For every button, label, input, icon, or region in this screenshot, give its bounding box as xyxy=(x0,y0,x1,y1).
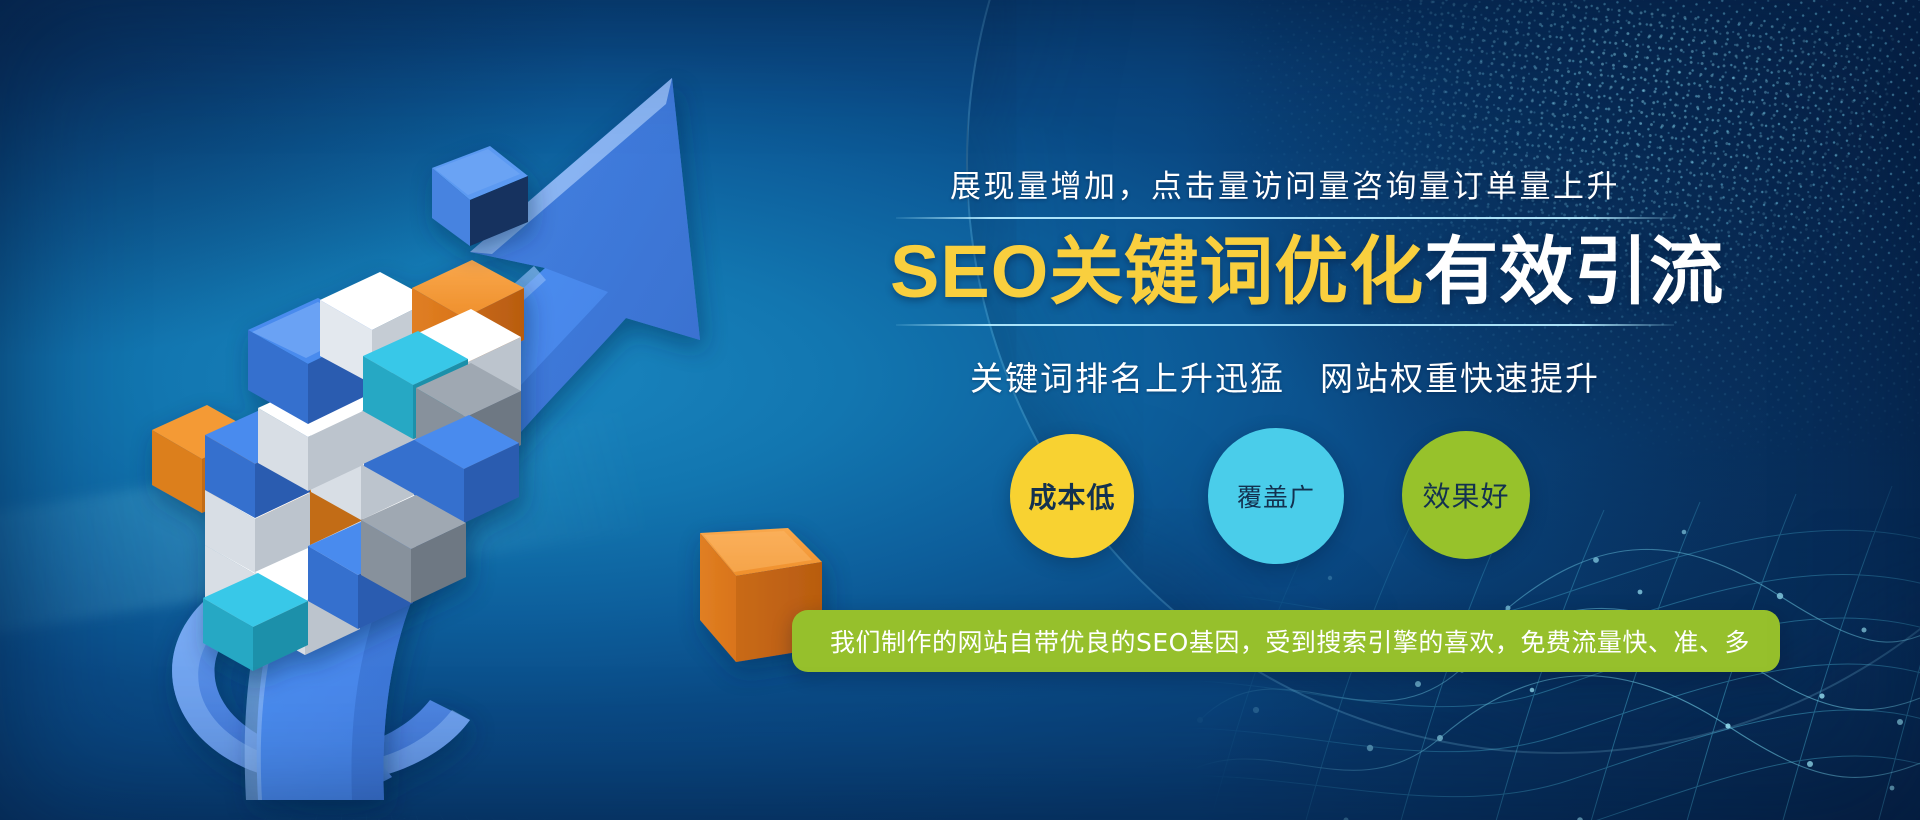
badge-cost-low[interactable]: 成本低 xyxy=(1010,434,1134,558)
headline-rest: 有效引流 xyxy=(1424,230,1724,313)
headline-block: 展现量增加，点击量访问量咨询量订单量上升 SEO关键词优化有效引流 关键词排名上… xyxy=(890,168,1680,400)
hero-artwork xyxy=(0,0,900,820)
badge-effect-good[interactable]: 效果好 xyxy=(1402,431,1530,559)
badge-label: 成本低 xyxy=(1028,476,1115,516)
footer-callout-text: 我们制作的网站自带优良的SEO基因，受到搜索引擎的喜欢，免费流量快、准、多 xyxy=(792,623,1750,659)
benefit-badges: 成本低 覆盖广 效果好 xyxy=(1010,428,1570,578)
badge-coverage-wide[interactable]: 覆盖广 xyxy=(1208,428,1344,564)
badge-label: 覆盖广 xyxy=(1237,478,1315,514)
headline-highlight: SEO关键词优化 xyxy=(890,230,1424,313)
tagline: 展现量增加，点击量访问量咨询量订单量上升 xyxy=(890,168,1680,217)
rubiks-cube-3d xyxy=(152,260,524,671)
subline: 关键词排名上升迅猛 网站权重快速提升 xyxy=(890,326,1680,400)
badge-label: 效果好 xyxy=(1422,475,1509,515)
seo-promo-banner: 展现量增加，点击量访问量咨询量订单量上升 SEO关键词优化有效引流 关键词排名上… xyxy=(0,0,1920,820)
footer-callout-pill: 我们制作的网站自带优良的SEO基因，受到搜索引擎的喜欢，免费流量快、准、多 xyxy=(792,610,1780,672)
page-title: SEO关键词优化有效引流 xyxy=(890,219,1680,324)
